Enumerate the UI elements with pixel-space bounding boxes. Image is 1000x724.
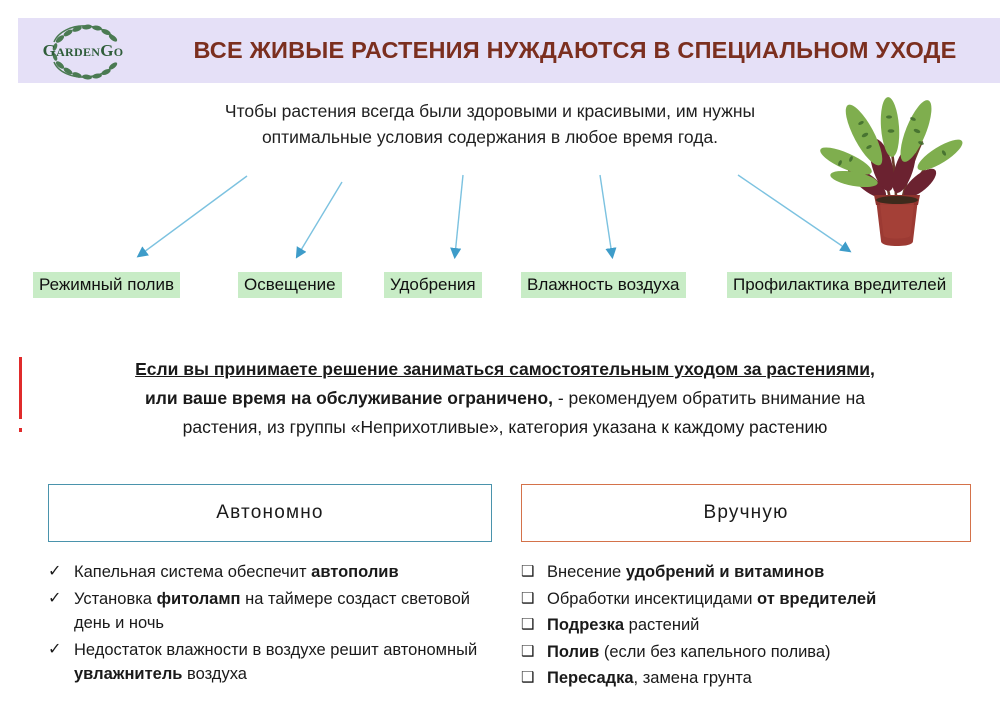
- box-manual[interactable]: Вручную: [521, 484, 971, 542]
- list-item-text: Обработки инсектицидами от вредителей: [547, 587, 981, 612]
- list-item: ❑Пересадка, замена грунта: [521, 666, 981, 691]
- page-title: ВСЕ ЖИВЫЕ РАСТЕНИЯ НУЖДАЮТСЯ В СПЕЦИАЛЬН…: [160, 18, 990, 83]
- autonomous-list: ✓Капельная система обеспечит автополив✓У…: [48, 560, 500, 689]
- manual-list: ❑Внесение удобрений и витаминов❑Обработк…: [521, 560, 981, 693]
- pointer-arrow: [298, 182, 342, 255]
- checkbox-icon: ❑: [521, 560, 547, 585]
- care-tag[interactable]: Влажность воздуха: [521, 272, 686, 298]
- slide-canvas: GardenGo ВСЕ ЖИВЫЕ РАСТЕНИЯ НУЖДАЮТСЯ В …: [0, 0, 1000, 724]
- box-manual-title: Вручную: [703, 502, 788, 524]
- care-tag[interactable]: Профилактика вредителей: [727, 272, 952, 298]
- checkbox-icon: ❑: [521, 640, 547, 665]
- list-item: ✓Недостаток влажности в воздухе решит ав…: [48, 638, 500, 687]
- callout-accent-dot: [19, 428, 22, 432]
- care-tag[interactable]: Удобрения: [384, 272, 482, 298]
- checkbox-icon: ❑: [521, 666, 547, 691]
- gardengo-logo: GardenGo: [24, 20, 142, 82]
- callout-accent-bar: [19, 357, 22, 419]
- list-item-text: Установка фитоламп на таймере создаст св…: [74, 587, 500, 636]
- list-item-text: Недостаток влажности в воздухе решит авт…: [74, 638, 500, 687]
- checkbox-icon: ❑: [521, 587, 547, 612]
- list-item-text: Капельная система обеспечит автополив: [74, 560, 500, 585]
- callout-line-2: или ваше время на обслуживание ограничен…: [40, 384, 970, 413]
- box-autonomous-title: Автономно: [216, 502, 323, 524]
- box-autonomous[interactable]: Автономно: [48, 484, 492, 542]
- care-tag[interactable]: Режимный полив: [33, 272, 180, 298]
- care-tags-row: Режимный поливОсвещениеУдобренияВлажност…: [0, 272, 1000, 298]
- pointer-arrow: [140, 176, 247, 255]
- intro-line-1: Чтобы растения всегда были здоровыми и к…: [165, 98, 815, 124]
- list-item-text: Полив (если без капельного полива): [547, 640, 981, 665]
- list-item-text: Внесение удобрений и витаминов: [547, 560, 981, 585]
- list-item: ❑Внесение удобрений и витаминов: [521, 560, 981, 585]
- list-item: ✓Установка фитоламп на таймере создаст с…: [48, 587, 500, 636]
- arrow-group: [0, 150, 1000, 275]
- callout-line-1: Если вы принимаете решение заниматься са…: [40, 355, 970, 384]
- intro-paragraph: Чтобы растения всегда были здоровыми и к…: [165, 98, 815, 150]
- list-item-text: Подрезка растений: [547, 613, 981, 638]
- list-item: ❑Обработки инсектицидами от вредителей: [521, 587, 981, 612]
- list-item: ❑Полив (если без капельного полива): [521, 640, 981, 665]
- list-item-text: Пересадка, замена грунта: [547, 666, 981, 691]
- checkmark-icon: ✓: [48, 638, 74, 663]
- list-item: ✓Капельная система обеспечит автополив: [48, 560, 500, 585]
- pointer-arrow: [600, 175, 612, 255]
- checkmark-icon: ✓: [48, 560, 74, 585]
- callout-paragraph: Если вы принимаете решение заниматься са…: [40, 355, 970, 442]
- checkmark-icon: ✓: [48, 587, 74, 612]
- pointer-arrow: [738, 175, 848, 250]
- logo-wordmark: GardenGo: [43, 41, 124, 61]
- care-tag[interactable]: Освещение: [238, 272, 342, 298]
- callout-line-3: растения, из группы «Неприхотливые», кат…: [40, 413, 970, 442]
- arrows-svg: [0, 150, 1000, 275]
- checkbox-icon: ❑: [521, 613, 547, 638]
- intro-line-2: оптимальные условия содержания в любое в…: [165, 124, 815, 150]
- pointer-arrow: [455, 175, 463, 255]
- list-item: ❑Подрезка растений: [521, 613, 981, 638]
